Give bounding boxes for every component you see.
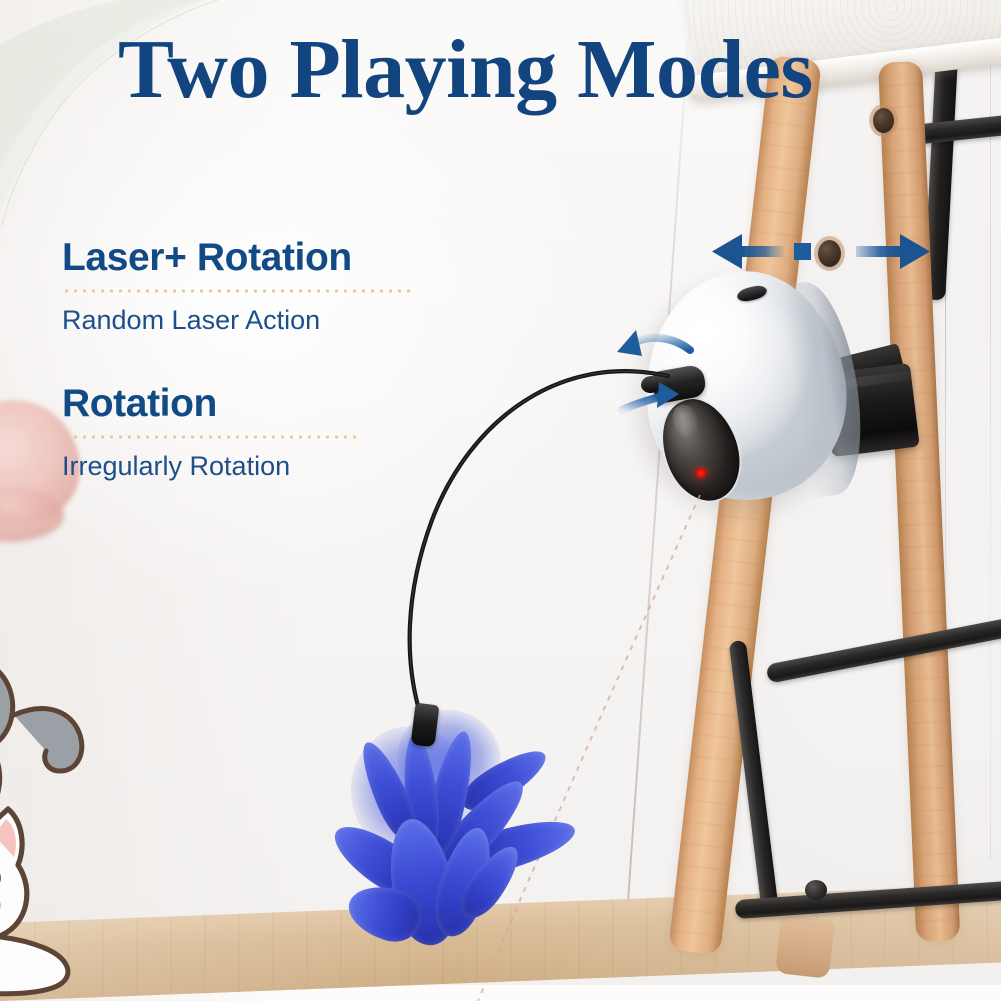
chair-screw-hole	[818, 240, 841, 267]
chair-brace-joint	[805, 880, 827, 900]
feather-toy	[345, 690, 595, 945]
chair-screw-hole	[873, 108, 894, 133]
mode-heading: Laser+ Rotation	[62, 236, 482, 281]
page-title: Two Playing Modes	[118, 26, 813, 114]
mode-subtitle: Random Laser Action	[62, 305, 482, 336]
product-feature-banner: Two Playing Modes Laser+ Rotation Random…	[0, 0, 1001, 1001]
mode-divider-dotted	[62, 435, 362, 439]
mode-divider-dotted	[62, 289, 415, 293]
modes-list: Laser+ Rotation Random Laser Action Rota…	[62, 236, 482, 528]
laser-dot	[695, 468, 707, 478]
mode-subtitle: Irregularly Rotation	[62, 451, 482, 482]
mode-block-rotation: Rotation Irregularly Rotation	[62, 382, 482, 482]
cat-stickers-group	[0, 545, 168, 1001]
chair-leg-foot	[775, 915, 835, 979]
mode-block-laser-rotation: Laser+ Rotation Random Laser Action	[62, 236, 482, 336]
sweep-center-marker	[794, 243, 811, 260]
cat-illustrations	[0, 545, 168, 1001]
gray-tabby-cat	[0, 545, 82, 771]
white-cat-with-bow	[0, 809, 68, 994]
mode-heading: Rotation	[62, 382, 482, 427]
laser-toy-device	[645, 272, 875, 522]
